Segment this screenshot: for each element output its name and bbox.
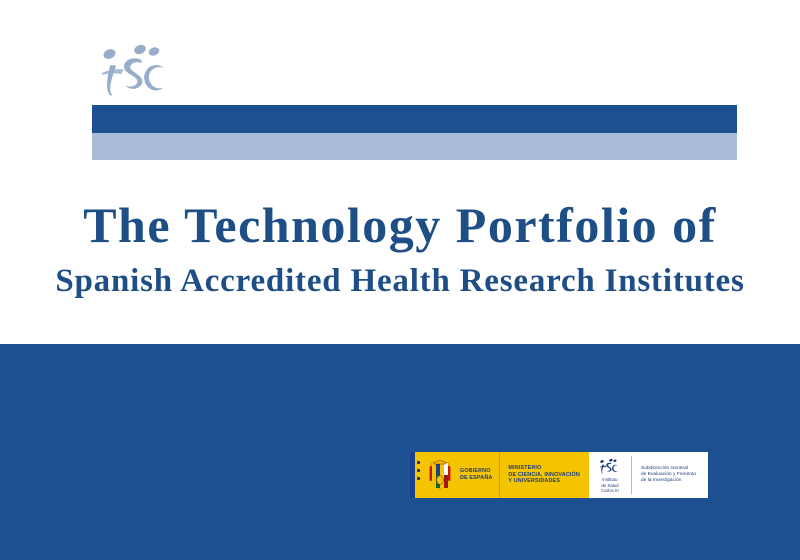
header-rule-dark	[92, 105, 737, 133]
subdirectorate-line-1: Subdirección General	[641, 466, 696, 472]
spain-flag-icon	[410, 452, 458, 498]
government-line-1: GOBIERNO	[460, 468, 492, 475]
ministry-line-3: Y UNIVERSIDADES	[508, 478, 580, 485]
ministry-line-1: MINISTERIO	[508, 465, 580, 472]
ministry-line-2: DE CIENCIA, INNOVACIÓN	[508, 472, 580, 479]
isciii-logo	[97, 42, 177, 104]
subdirectorate-line-3: de la Investigación	[641, 478, 696, 484]
flag-dots	[417, 461, 420, 480]
isciii-block: Instituto de Salud Carlos III Subdirecci…	[589, 452, 708, 498]
government-of-spain-logo: GOBIERNO DE ESPAÑA MINISTERIO DE CIENCIA…	[410, 452, 589, 498]
government-label: GOBIERNO DE ESPAÑA	[458, 468, 499, 481]
header-rule-light	[92, 133, 737, 160]
isciii-footer-logo: Instituto de Salud Carlos III	[589, 452, 631, 498]
institute-line-3: Carlos III	[601, 488, 619, 493]
institute-caption: Instituto de Salud Carlos III	[601, 477, 619, 493]
institute-line-1: Instituto	[601, 477, 619, 482]
subdirectorate-label: Subdirección General de Evaluación y Fom…	[632, 466, 696, 485]
title-line-primary: The Technology Portfolio of	[0, 196, 800, 254]
government-line-2: DE ESPAÑA	[460, 475, 492, 482]
ministry-label: MINISTERIO DE CIENCIA, INNOVACIÓN Y UNIV…	[500, 465, 589, 485]
cover-page: The Technology Portfolio of Spanish Accr…	[0, 0, 800, 560]
flag-yellow-field	[415, 452, 458, 498]
coat-of-arms-icon	[429, 459, 451, 489]
institutional-logo-bar: GOBIERNO DE ESPAÑA MINISTERIO DE CIENCIA…	[410, 452, 708, 498]
title-line-secondary: Spanish Accredited Health Research Insti…	[0, 260, 800, 302]
isciii-footer-mark-icon	[597, 458, 623, 476]
page-title: The Technology Portfolio of Spanish Accr…	[0, 196, 800, 302]
